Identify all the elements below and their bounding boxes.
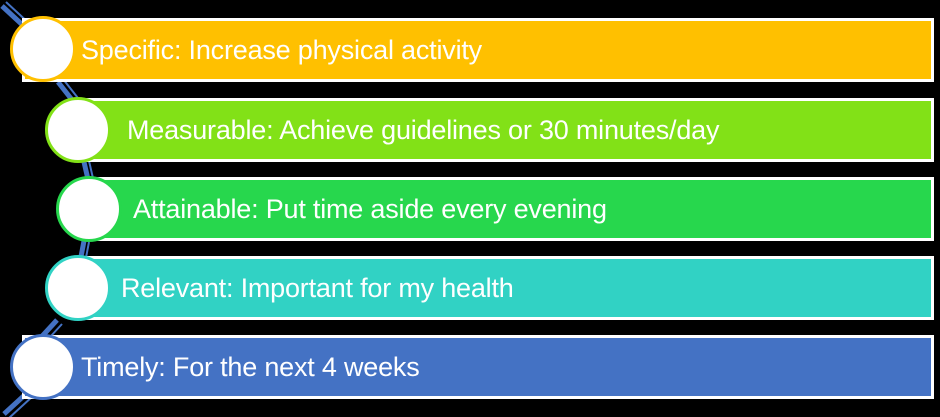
step-bar-attainable[interactable]: Attainable: Put time aside every evening	[84, 177, 934, 241]
step-label-relevant: Relevant: Important for my health	[121, 275, 514, 302]
step-bar-specific[interactable]: Specific: Increase physical activity	[22, 18, 934, 82]
step-label-timely: Timely: For the next 4 weeks	[81, 354, 420, 381]
step-circle-measurable[interactable]	[45, 97, 111, 163]
connector-lead-out-inner	[9, 396, 33, 417]
step-circle-timely[interactable]	[10, 334, 76, 400]
step-bar-relevant[interactable]: Relevant: Important for my health	[72, 256, 934, 320]
step-label-specific: Specific: Increase physical activity	[81, 37, 482, 64]
step-label-attainable: Attainable: Put time aside every evening	[133, 196, 607, 223]
step-label-measurable: Measurable: Achieve guidelines or 30 min…	[127, 117, 719, 144]
step-bar-measurable[interactable]: Measurable: Achieve guidelines or 30 min…	[72, 98, 934, 162]
step-circle-relevant[interactable]	[45, 255, 111, 321]
smart-goal-diagram: Specific: Increase physical activity Mea…	[0, 0, 940, 417]
step-circle-specific[interactable]	[10, 16, 76, 82]
step-bar-timely[interactable]: Timely: For the next 4 weeks	[22, 335, 934, 399]
step-circle-attainable[interactable]	[56, 176, 122, 242]
